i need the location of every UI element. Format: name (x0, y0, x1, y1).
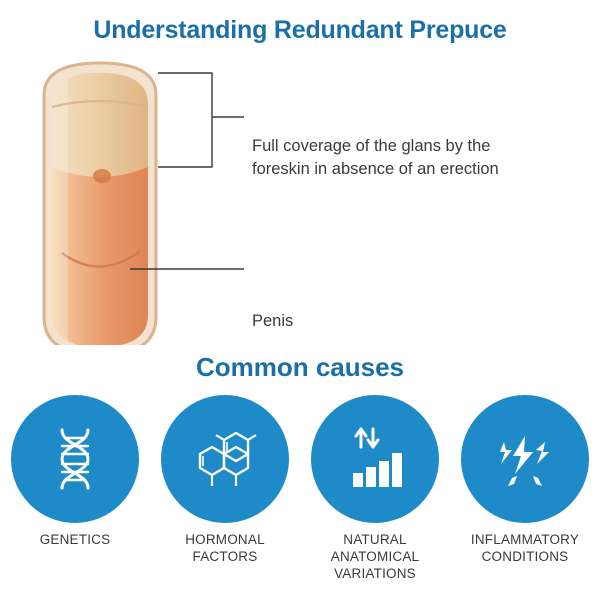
callout-penis-text: Penis (252, 310, 293, 333)
anatomy-diagram: Full coverage of the glans by the foresk… (0, 55, 600, 345)
cause-item-inflammatory-conditions[interactable]: INFLAMMATORYCONDITIONS (455, 395, 595, 566)
section-title-common-causes: Common causes (0, 352, 600, 383)
cause-icon-circle (11, 395, 139, 523)
page-title: Understanding Redundant Prepuce (0, 16, 600, 45)
causes-list: GENETICS HORMONALFACTORS (0, 395, 600, 585)
bar-chart-arrows-icon (339, 423, 411, 495)
dna-icon (38, 422, 112, 496)
cause-label: GENETICS (40, 532, 111, 549)
cause-icon-circle (161, 395, 289, 523)
cause-item-genetics[interactable]: GENETICS (5, 395, 145, 549)
molecule-icon (186, 420, 264, 498)
coverage-leader-line (158, 73, 244, 167)
cause-icon-circle (311, 395, 439, 523)
cause-item-natural-anatomical-variations[interactable]: NATURALANATOMICALVARIATIONS (305, 395, 445, 583)
cause-label: NATURALANATOMICALVARIATIONS (331, 532, 420, 583)
infographic-page: Understanding Redundant Prepuce (0, 0, 600, 600)
cause-label: INFLAMMATORYCONDITIONS (471, 532, 579, 566)
meatus-marker (93, 169, 111, 183)
anatomy-illustration (0, 55, 600, 345)
penis-shaft (52, 73, 148, 345)
cause-label: HORMONALFACTORS (185, 532, 265, 566)
cause-icon-circle (461, 395, 589, 523)
callout-coverage-text: Full coverage of the glans by the foresk… (252, 135, 552, 181)
pain-flash-icon (488, 422, 562, 496)
cause-item-hormonal-factors[interactable]: HORMONALFACTORS (155, 395, 295, 566)
